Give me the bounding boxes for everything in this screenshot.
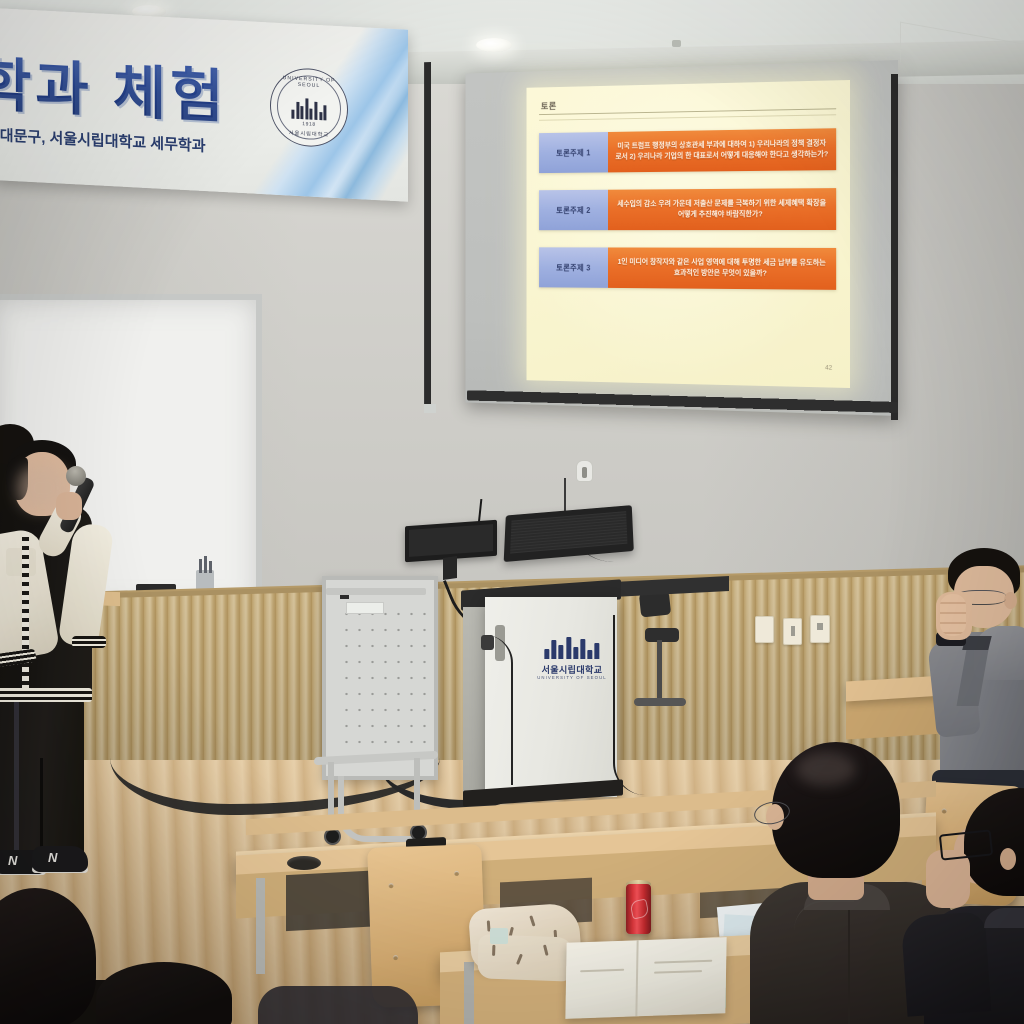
soda-can-script-icon [629,898,649,919]
event-banner: 학과 체험 동대문구, 서울시립대학교 세무학과 UNIVERSITY OF S… [0,8,408,202]
jacket-shoulder-seam [794,900,854,962]
banner-title: 학과 체험 [0,37,228,134]
slide-title: 토론 [541,99,557,112]
sneaker-right: N [32,846,88,872]
hand-holding-microphone [56,492,82,520]
jacket-cuff-stripe [72,636,106,648]
panel-board-frame [322,576,438,780]
wall-plate-switch [783,618,802,645]
shoe-brand-mark: N [48,850,57,865]
mobile-panel-board[interactable] [314,576,442,848]
hair-highlight [796,752,856,786]
topic-text-2: 세수입의 감소 우려 가운데 저출산 문제를 극복하기 위한 세제혜택 확장을 … [608,188,836,230]
projected-slide: 토론 토론주제 1 미국 트럼프 행정부의 상호관세 부과에 대하여 1) 우리… [527,80,850,388]
jacket-snap-placket [22,532,29,688]
podium-logo-english: UNIVERSITY OF SEOUL [531,675,613,680]
topic-text-3: 1인 미디어 창작자와 같은 사업 영역에 대해 투명한 세금 납부를 유도하는… [608,247,836,289]
fingers [940,594,966,636]
slide-topic-row: 토론주제 2 세수입의 감소 우려 가운데 저출산 문제를 극복하기 위한 세제… [539,188,836,230]
screen-rail-right [891,74,898,420]
trouser-side-stripe [14,698,19,854]
projector-glow [527,80,850,388]
desk-leg [464,962,474,1024]
slide-page-number: 42 [825,364,832,371]
booklet-spine [635,940,638,1016]
slide-topic-row: 토론주제 1 미국 트럼프 행정부의 상호관세 부과에 대하여 1) 우리나라의… [539,128,836,173]
monitor-hinge [443,556,457,580]
panel-board-label [346,602,384,614]
ear [1000,848,1016,870]
jacket-chest-patch [6,548,36,576]
small-dish[interactable] [287,856,321,870]
seal-bar-mark-icon [291,95,326,121]
bag-foreground [258,986,418,1024]
shirt-collar [962,636,991,650]
podium-cable [613,615,645,795]
podium-university-logo: 서울시립대학교 UNIVERSITY OF SEOUL [531,637,613,683]
desk-leg [256,878,265,974]
arm [901,911,992,1017]
trouser-inseam [40,758,43,858]
screen-bar-end-cap [424,404,436,413]
topic-label-1: 토론주제 1 [539,132,608,173]
open-booklet[interactable] [565,937,726,1019]
eyeglasses-icon [939,829,993,860]
perforated-panel [340,606,436,766]
shoe-brand-mark: N [8,853,17,868]
jacket-hem-stripe [0,688,92,702]
topic-label-2: 토론주제 2 [539,190,608,230]
logo-bar-mark-icon [544,637,599,659]
slide-topic-row: 토론주제 3 1인 미디어 창작자와 같은 사업 영역에 대해 투명한 세금 납… [539,247,836,290]
wall-plate-blank [755,616,774,643]
podium-cable [485,635,513,785]
screen-rail-left [424,62,431,412]
student-with-microphone: N N [0,440,120,890]
lecture-hall-scene: 학과 체험 동대문구, 서울시립대학교 세무학과 UNIVERSITY OF S… [0,0,1024,1024]
foreground-head-left-second [96,962,232,1024]
seated-student-front-right [944,788,1024,1024]
wall-plate-outlet [810,615,830,643]
office-chair-column [657,640,662,702]
sprinkler-head-icon [672,40,681,47]
projection-screen: 토론 토론주제 1 미국 트럼프 행정부의 상호관세 부과에 대하여 1) 우리… [424,60,898,430]
monitor-screen [409,524,493,557]
panel-board-foot [338,776,414,842]
topic-text-1: 미국 트럼프 행정부의 상호관세 부과에 대하여 1) 우리나라의 정책 결정자… [608,128,836,172]
soda-can[interactable] [626,884,651,934]
hook-slot [582,467,587,478]
panel-board-top-rail [326,588,426,595]
ceiling-downlight-icon [476,38,512,52]
topic-label-3: 토론주제 3 [539,247,608,288]
lectern-podium[interactable]: 서울시립대학교 UNIVERSITY OF SEOUL [463,575,639,815]
monitor-screen [510,511,627,553]
cup-on-desk[interactable] [490,928,508,944]
office-chair-seat [645,628,679,642]
